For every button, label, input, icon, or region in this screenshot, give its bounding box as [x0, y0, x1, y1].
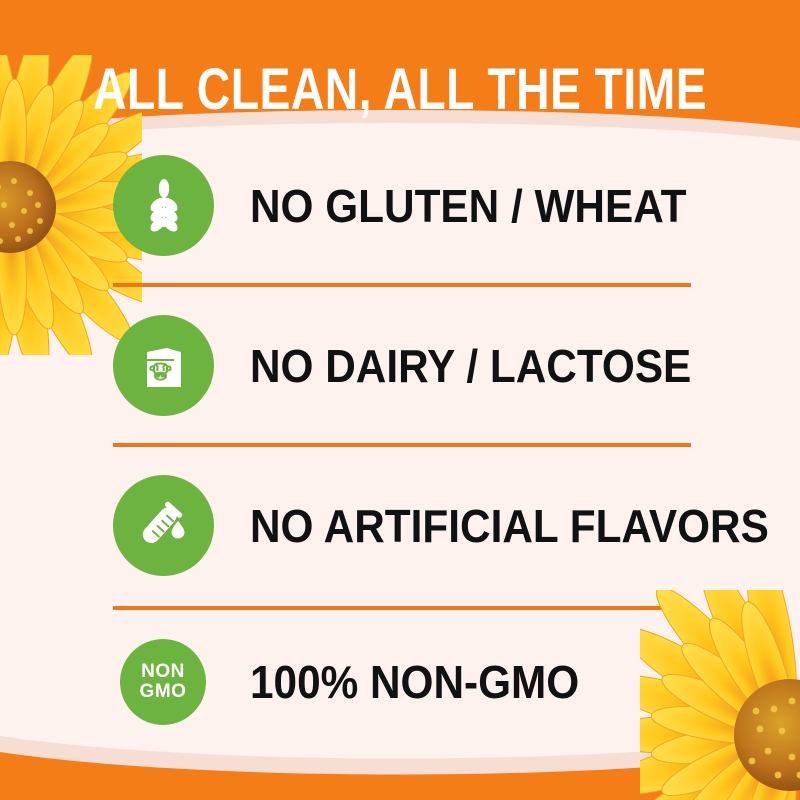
non-gmo-line-1: NON	[140, 662, 187, 682]
claim-label-nongmo: 100% NON-GMO	[250, 658, 579, 706]
non-gmo-icon: NON GMO	[140, 662, 187, 702]
badge-dairy	[113, 315, 214, 416]
claim-row-gluten[interactable]: NO GLUTEN / WHEAT	[113, 143, 691, 268]
claims-list: NO GLUTEN / WHEAT	[0, 0, 800, 800]
wheat-icon	[133, 175, 195, 237]
claim-label-dairy: NO DAIRY / LACTOSE	[250, 342, 691, 390]
milk-carton-icon	[133, 335, 195, 397]
non-gmo-line-2: GMO	[140, 682, 187, 702]
divider-2	[113, 443, 691, 447]
claim-label-gluten: NO GLUTEN / WHEAT	[250, 182, 686, 230]
badge-gluten	[113, 155, 214, 256]
divider-1	[113, 283, 691, 287]
test-tube-icon	[133, 495, 195, 557]
divider-3	[113, 606, 691, 610]
promo-poster: ALL CLEAN, ALL THE TIME	[0, 0, 800, 800]
badge-flavors	[113, 475, 214, 576]
badge-nongmo: NON GMO	[120, 639, 206, 725]
claim-row-dairy[interactable]: NO DAIRY / LACTOSE	[113, 303, 691, 428]
claim-label-flavors: NO ARTIFICIAL FLAVORS	[250, 502, 769, 550]
claim-row-flavors[interactable]: NO ARTIFICIAL FLAVORS	[113, 463, 691, 588]
claim-row-nongmo[interactable]: NON GMO 100% NON-GMO	[113, 626, 691, 738]
